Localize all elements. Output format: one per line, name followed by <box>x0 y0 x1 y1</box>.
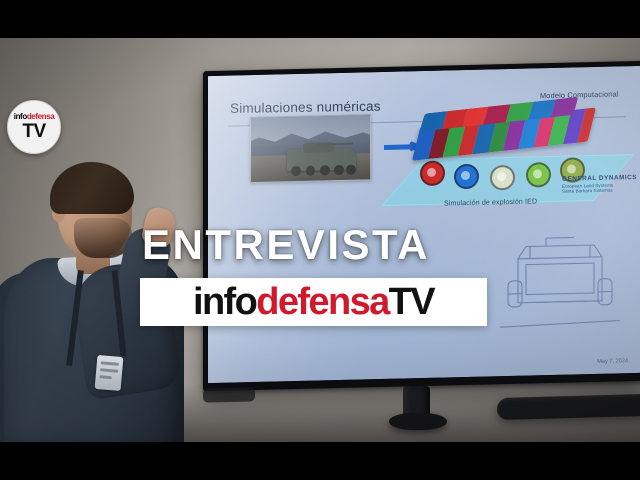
brand-wordmark-tv: TV <box>389 281 434 323</box>
video-content: Simulaciones numéricas <box>0 38 640 442</box>
corner-logo-info: info <box>14 112 27 121</box>
brand-wordmark: infodefensaTV <box>193 283 434 321</box>
corner-logo-line1: infodefensa <box>14 113 55 121</box>
brand-banner: infodefensaTV <box>140 278 487 326</box>
brand-wordmark-info: info <box>193 281 256 323</box>
letterbox-bar-bottom <box>0 442 640 480</box>
video-frame: Simulaciones numéricas <box>0 0 640 480</box>
corner-logo-tv: TV <box>22 122 45 141</box>
corner-watermark-logo: infodefensa TV <box>7 100 61 154</box>
headline-entrevista: ENTREVISTA <box>142 224 430 266</box>
letterbox-bar-top <box>0 0 640 38</box>
corner-logo-defensa: defensa <box>27 112 54 121</box>
brand-wordmark-defensa: defensa <box>256 281 388 323</box>
